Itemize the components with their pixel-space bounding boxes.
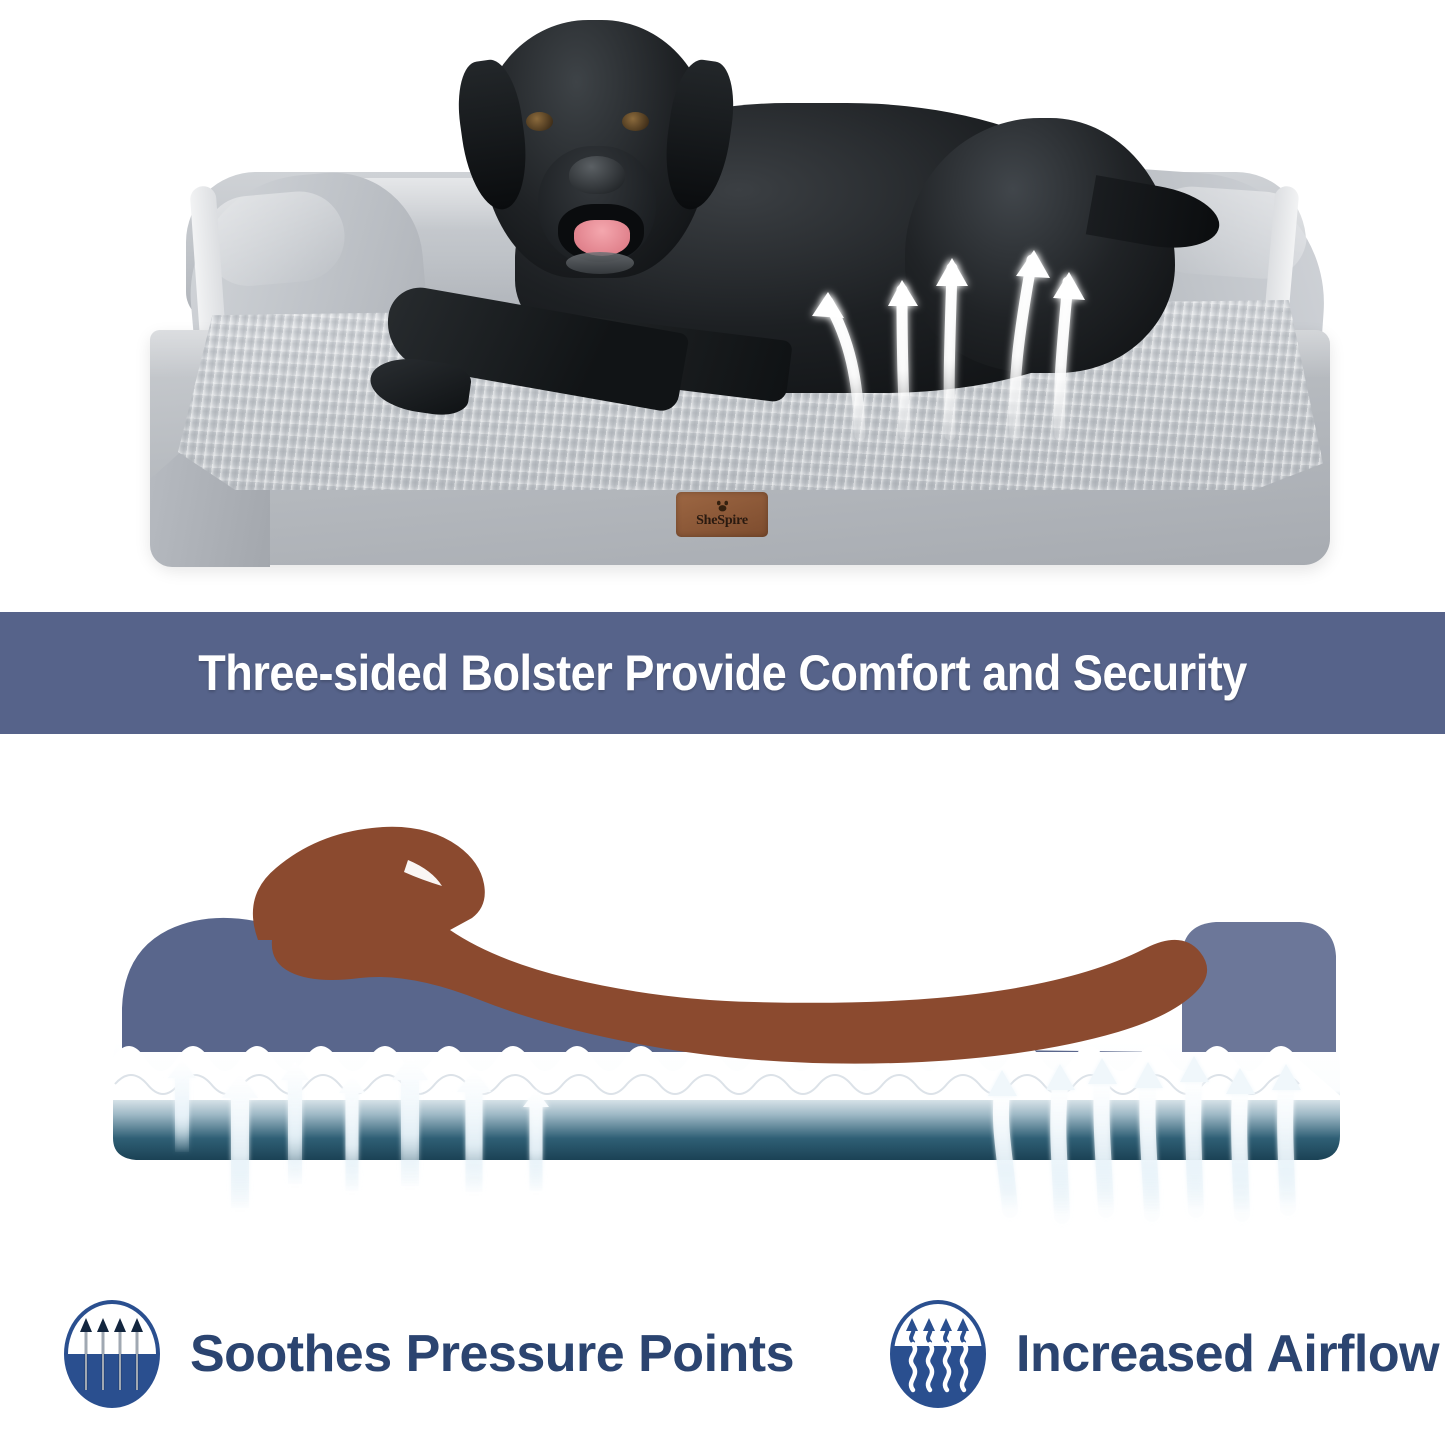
feature-row: Soothes Pressure Points [0, 1262, 1445, 1445]
dog-nose [569, 156, 625, 194]
feature-label-soothes-pressure-points: Soothes Pressure Points [190, 1324, 794, 1384]
headline-text: Three-sided Bolster Provide Comfort and … [198, 644, 1247, 702]
cross-section-diagram [0, 740, 1445, 1260]
feature-soothes-pressure-points: Soothes Pressure Points [60, 1298, 794, 1410]
hero-photo-stage: SheSpire [0, 0, 1445, 610]
brand-name: SheSpire [696, 513, 748, 529]
airflow-icon [886, 1298, 990, 1410]
brand-patch: SheSpire [676, 492, 768, 537]
pressure-points-icon [60, 1298, 164, 1410]
photo-airflow-arrows [810, 230, 1110, 440]
hero-photo-panel: SheSpire [0, 0, 1445, 610]
dog-chin [566, 252, 634, 274]
headline-banner: Three-sided Bolster Provide Comfort and … [0, 612, 1445, 734]
paw-icon [715, 500, 730, 512]
dog-tongue [574, 220, 630, 256]
product-infographic: SheSpire Three-sided Bolster Provide Com… [0, 0, 1445, 1445]
dog-right-eye [622, 112, 649, 131]
dog-left-eye [526, 112, 553, 131]
right-bolster-block [1182, 922, 1336, 1052]
feature-increased-airflow: Increased Airflow [886, 1298, 1439, 1410]
feature-label-increased-airflow: Increased Airflow [1016, 1324, 1439, 1384]
